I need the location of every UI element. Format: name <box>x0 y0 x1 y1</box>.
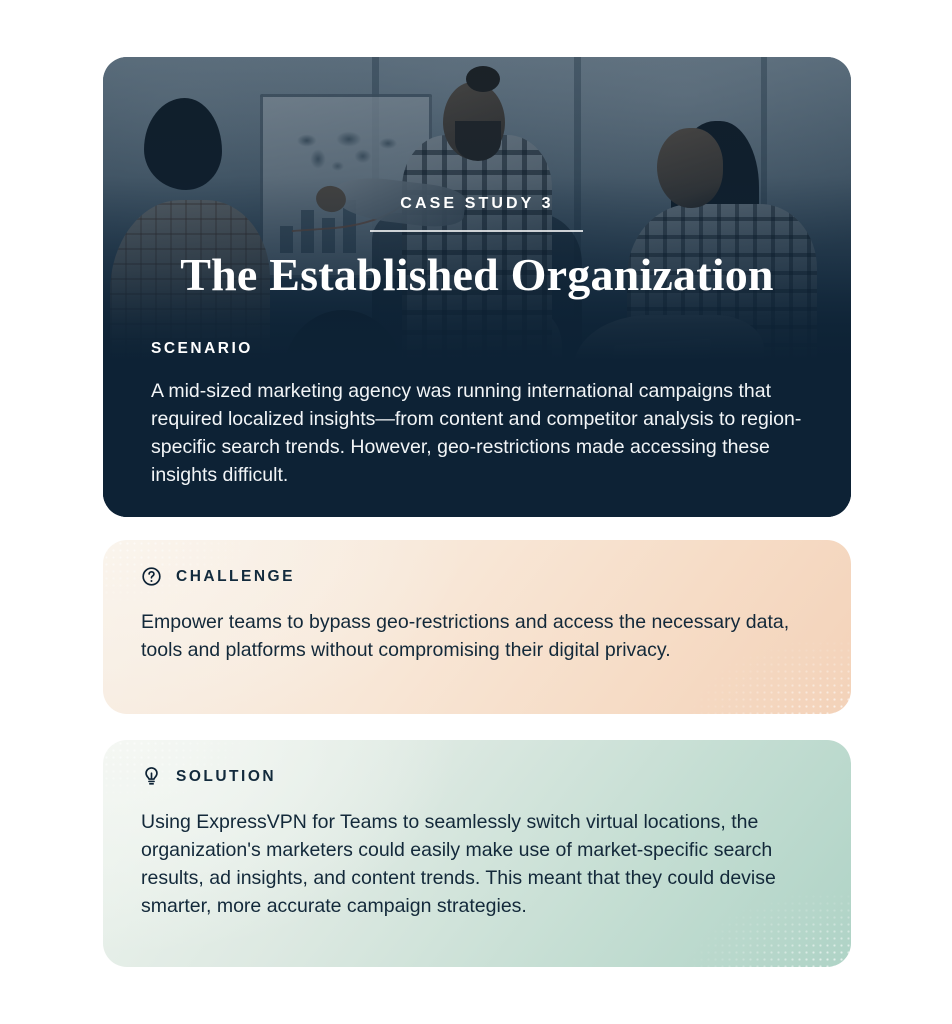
solution-card: SOLUTION Using ExpressVPN for Teams to s… <box>103 740 851 967</box>
hero-content: CASE STUDY 3 The Established Organizatio… <box>103 57 851 517</box>
scenario-body-text: A mid-sized marketing agency was running… <box>151 377 821 489</box>
case-study-page: CASE STUDY 3 The Established Organizatio… <box>0 0 952 1024</box>
challenge-card: CHALLENGE Empower teams to bypass geo-re… <box>103 540 851 714</box>
challenge-body-text: Empower teams to bypass geo-restrictions… <box>141 608 831 664</box>
challenge-label: CHALLENGE <box>176 569 295 585</box>
hero-case-study-card: CASE STUDY 3 The Established Organizatio… <box>103 57 851 517</box>
question-mark-circle-icon <box>141 566 162 587</box>
page-title: The Established Organization <box>103 249 851 301</box>
eyebrow-divider <box>370 230 583 232</box>
solution-header: SOLUTION <box>141 766 276 787</box>
case-study-eyebrow: CASE STUDY 3 <box>103 195 851 213</box>
challenge-header: CHALLENGE <box>141 566 295 587</box>
solution-label: SOLUTION <box>176 769 276 785</box>
solution-body-text: Using ExpressVPN for Teams to seamlessly… <box>141 808 821 920</box>
scenario-label: SCENARIO <box>151 340 253 358</box>
lightbulb-icon <box>141 766 162 787</box>
